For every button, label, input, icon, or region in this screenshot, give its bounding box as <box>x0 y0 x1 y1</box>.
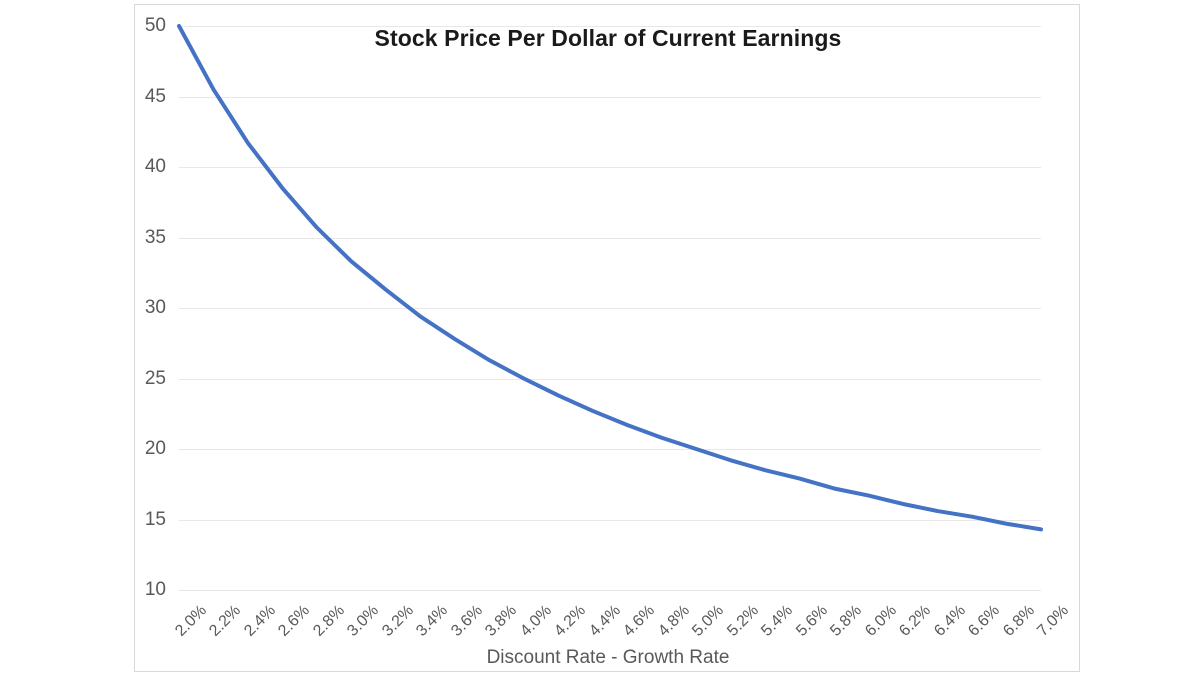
y-axis-tick-label: 35 <box>145 227 166 249</box>
x-axis-tick-label: 2.8% <box>310 602 349 641</box>
x-axis-tick-label: 5.2% <box>724 602 763 641</box>
x-axis-tick-label: 2.0% <box>172 602 211 641</box>
x-axis-tick-label: 4.4% <box>586 602 625 641</box>
x-axis-tick-label: 6.6% <box>965 602 1004 641</box>
x-axis-tick-label: 5.6% <box>793 602 832 641</box>
y-axis-tick-label: 10 <box>145 579 166 601</box>
x-axis-tick-label: 4.0% <box>517 602 556 641</box>
y-axis-tick-label: 30 <box>145 297 166 319</box>
x-axis-tick-label: 4.8% <box>655 602 694 641</box>
x-axis-tick-labels: 2.0%2.2%2.4%2.6%2.8%3.0%3.2%3.4%3.6%3.8%… <box>179 594 1041 654</box>
y-axis-tick-label: 25 <box>145 368 166 390</box>
x-axis-tick-label: 5.8% <box>827 602 866 641</box>
x-axis-tick-label: 2.4% <box>241 602 280 641</box>
series-line-chart <box>179 26 1041 590</box>
gridline <box>179 590 1041 591</box>
x-axis-tick-label: 3.2% <box>379 602 418 641</box>
x-axis-tick-label: 3.6% <box>448 602 487 641</box>
x-axis-tick-label: 6.4% <box>931 602 970 641</box>
x-axis-tick-label: 6.2% <box>896 602 935 641</box>
chart-frame: Stock Price Per Dollar of Current Earnin… <box>134 4 1080 672</box>
x-axis-tick-label: 4.6% <box>620 602 659 641</box>
plot-area: 101520253035404550 <box>179 26 1041 590</box>
x-axis-tick-label: 2.6% <box>276 602 315 641</box>
x-axis-tick-label: 3.0% <box>345 602 384 641</box>
x-axis-tick-label: 3.8% <box>483 602 522 641</box>
series-line-path <box>179 26 1041 529</box>
y-axis-tick-label: 50 <box>145 15 166 37</box>
x-axis-tick-label: 7.0% <box>1034 602 1073 641</box>
y-axis-tick-label: 40 <box>145 156 166 178</box>
x-axis-tick-label: 2.2% <box>207 602 246 641</box>
y-axis-tick-label: 15 <box>145 509 166 531</box>
y-axis-tick-label: 45 <box>145 86 166 108</box>
x-axis-title: Discount Rate - Growth Rate <box>135 647 1081 669</box>
x-axis-tick-label: 4.2% <box>551 602 590 641</box>
x-axis-tick-label: 6.8% <box>1000 602 1039 641</box>
x-axis-tick-label: 6.0% <box>862 602 901 641</box>
y-axis-tick-label: 20 <box>145 438 166 460</box>
x-axis-tick-label: 5.4% <box>758 602 797 641</box>
x-axis-tick-label: 3.4% <box>414 602 453 641</box>
x-axis-tick-label: 5.0% <box>689 602 728 641</box>
